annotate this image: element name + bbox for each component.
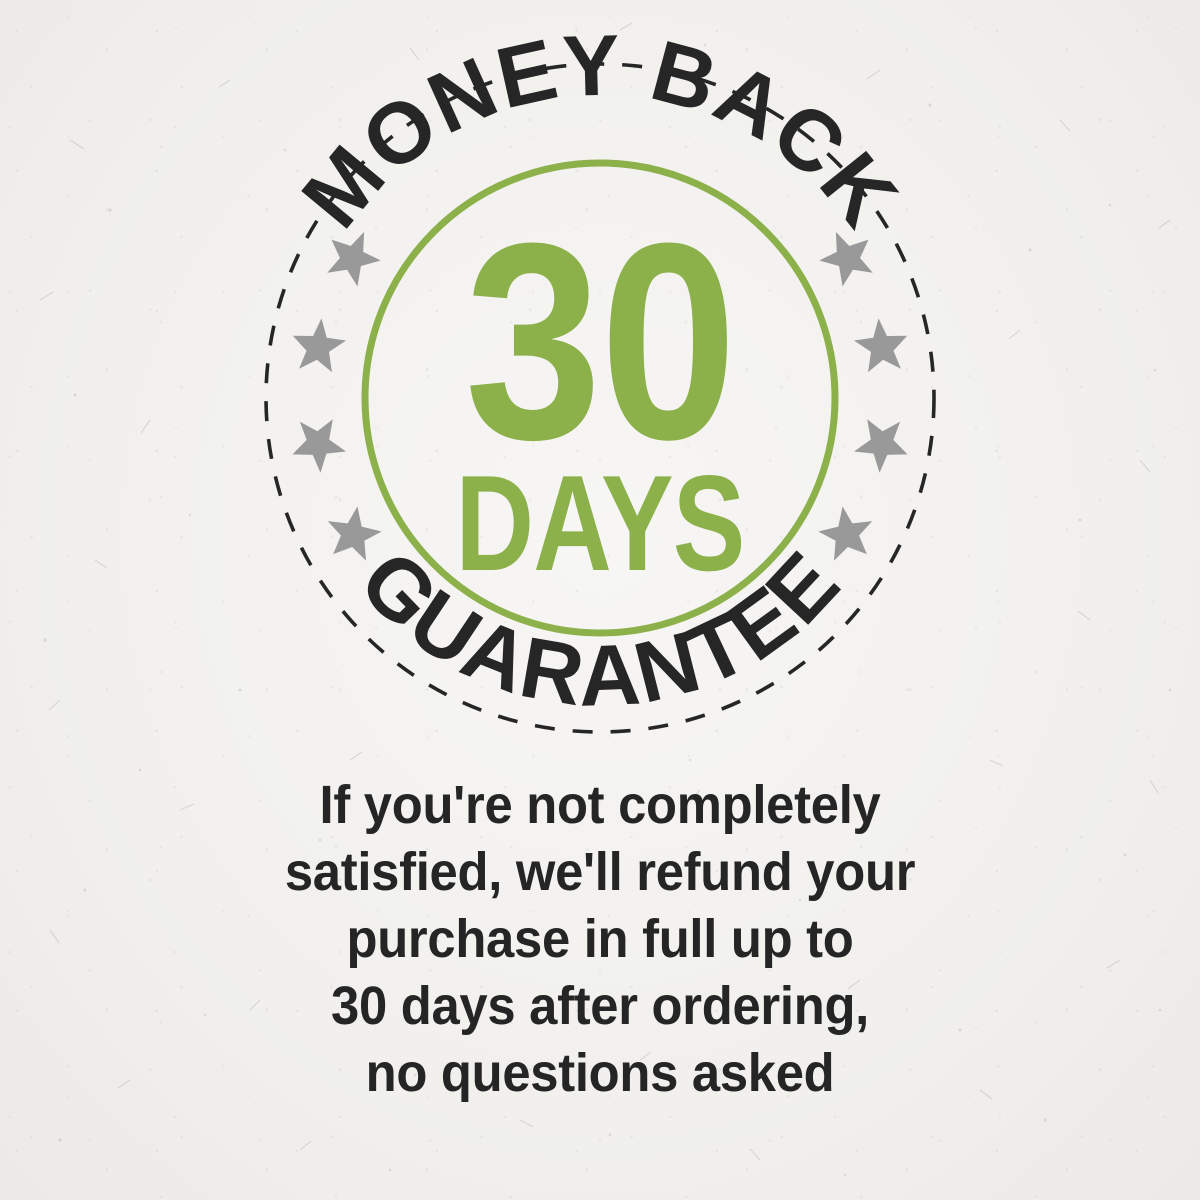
badge-unit-label: DAYS (455, 449, 744, 600)
money-back-guarantee-badge: MONEY BACK GUARANTEE 30 DAYS (0, 0, 1200, 790)
star-icon (811, 499, 886, 574)
star-icon (282, 410, 350, 480)
promise-line: purchase in full up to (36, 906, 1164, 973)
star-icon (850, 410, 918, 480)
promise-line: no questions asked (36, 1040, 1164, 1107)
promise-line: satisfied, we'll refund your (36, 839, 1164, 906)
promise-line: 30 days after ordering, (36, 973, 1164, 1040)
guarantee-promise-text: If you're not completely satisfied, we'l… (0, 772, 1200, 1107)
star-icon (850, 311, 919, 382)
promise-line: If you're not completely (36, 772, 1164, 839)
star-icon (314, 499, 389, 574)
star-icon (282, 311, 351, 382)
